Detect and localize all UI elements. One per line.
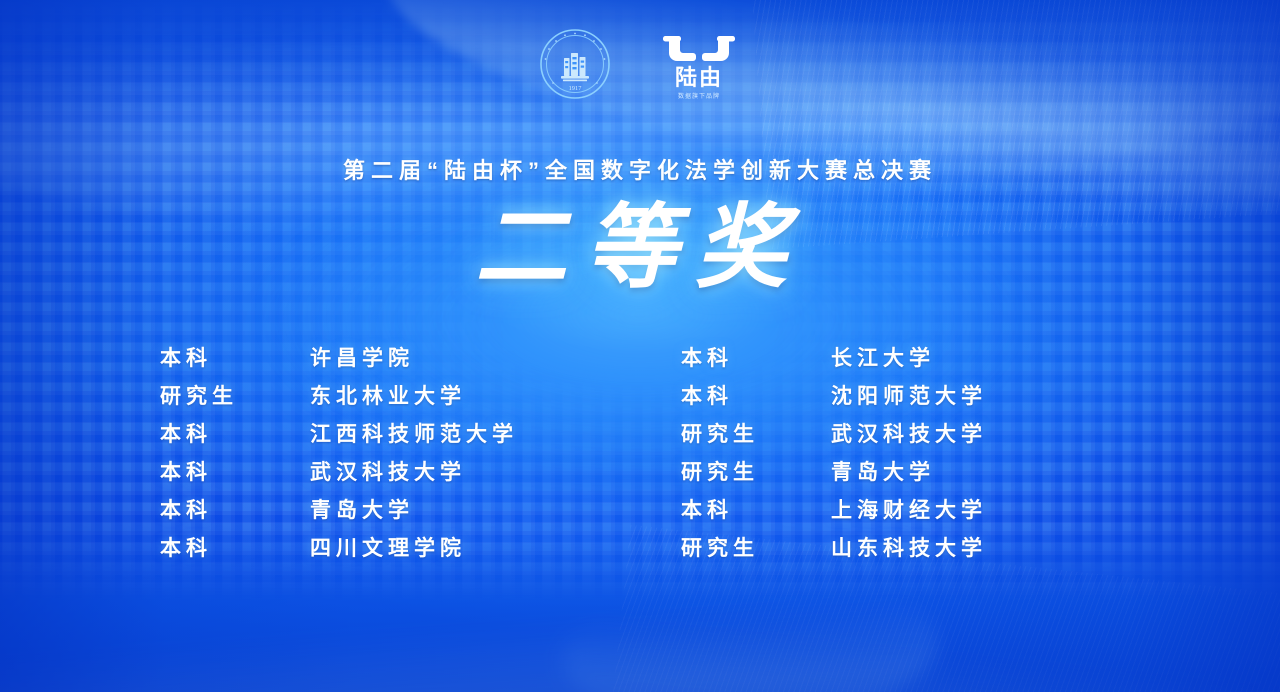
winner-level: 本科	[160, 418, 310, 448]
winner-level: 本科	[160, 456, 310, 486]
winner-school: 武汉科技大学	[831, 418, 1120, 448]
award-title: 二等奖	[0, 200, 1280, 297]
university-seal-icon: 1917	[539, 28, 611, 100]
winner-level: 本科	[160, 532, 310, 562]
seal-year: 1917	[569, 85, 583, 92]
event-title: 第二届“陆由杯”全国数字化法学创新大赛总决赛	[0, 153, 1280, 185]
winner-level: 本科	[681, 342, 831, 372]
winner-row: 本科长江大学	[681, 338, 1120, 376]
winner-school: 武汉科技大学	[310, 456, 599, 486]
winner-school: 青岛大学	[831, 456, 1120, 486]
logo-row: 1917 陆由 数据旗下品牌	[0, 28, 1280, 104]
winner-row: 本科四川文理学院	[160, 528, 599, 566]
winner-row: 本科上海财经大学	[681, 490, 1120, 528]
winner-school: 青岛大学	[310, 494, 599, 524]
winner-level: 研究生	[160, 380, 310, 410]
winner-row: 研究生武汉科技大学	[681, 414, 1120, 452]
winner-level: 本科	[160, 342, 310, 372]
winner-level: 本科	[681, 380, 831, 410]
winner-level: 本科	[160, 494, 310, 524]
winner-level: 研究生	[681, 418, 831, 448]
winner-school: 许昌学院	[310, 342, 599, 372]
winner-school: 沈阳师范大学	[831, 380, 1120, 410]
brand-tagline: 数据旗下品牌	[678, 92, 720, 100]
winner-row: 本科许昌学院	[160, 338, 599, 376]
winner-level: 本科	[681, 494, 831, 524]
winner-school: 山东科技大学	[831, 532, 1120, 562]
award-slide: 1917 陆由 数据旗下品牌	[0, 0, 1280, 692]
winner-school: 上海财经大学	[831, 494, 1120, 524]
open-book-icon	[663, 36, 735, 61]
winner-school: 四川文理学院	[310, 532, 599, 562]
winner-row: 本科沈阳师范大学	[681, 376, 1120, 414]
brand-wordmark: 陆由	[675, 65, 723, 90]
winner-row: 本科江西科技师范大学	[160, 414, 599, 452]
winner-school: 江西科技师范大学	[310, 418, 599, 448]
winner-row: 研究生山东科技大学	[681, 528, 1120, 566]
winners-list: 本科许昌学院本科长江大学研究生东北林业大学本科沈阳师范大学本科江西科技师范大学研…	[160, 338, 1120, 566]
winner-row: 研究生东北林业大学	[160, 376, 599, 414]
winner-row: 本科青岛大学	[160, 490, 599, 528]
winner-school: 东北林业大学	[310, 380, 599, 410]
winner-level: 研究生	[681, 532, 831, 562]
winner-level: 研究生	[681, 456, 831, 486]
winner-row: 本科武汉科技大学	[160, 452, 599, 490]
winner-school: 长江大学	[831, 342, 1120, 372]
brand-logo: 陆由 数据旗下品牌	[657, 28, 741, 104]
winner-row: 研究生青岛大学	[681, 452, 1120, 490]
